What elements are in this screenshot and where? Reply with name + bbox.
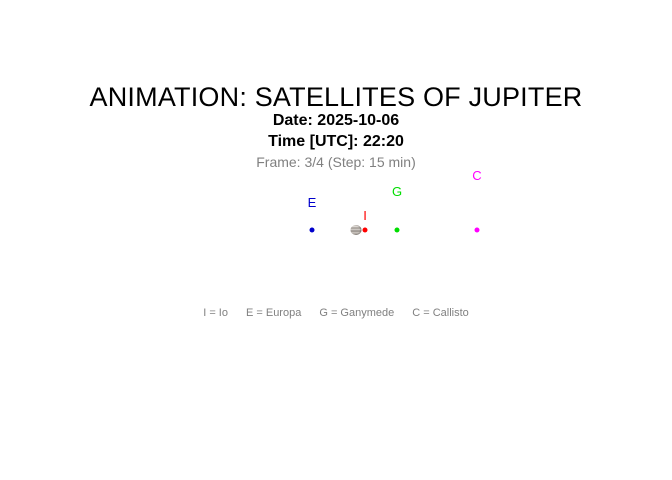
legend-entry: E = Europa xyxy=(246,307,301,319)
moon-marker-callisto xyxy=(475,228,480,233)
moon-marker-europa xyxy=(310,228,315,233)
moon-label-callisto: C xyxy=(472,169,481,182)
legend-entry: I = Io xyxy=(203,307,228,319)
legend-entry: G = Ganymede xyxy=(319,307,394,319)
legend: I = IoE = EuropaG = GanymedeC = Callisto xyxy=(0,307,672,319)
legend-entry: C = Callisto xyxy=(412,307,469,319)
satellite-plot: EIGC xyxy=(0,0,672,480)
animation-canvas: ANIMATION: SATELLITES OF JUPITER Date: 2… xyxy=(0,0,672,480)
moon-marker-ganymede xyxy=(395,228,400,233)
jupiter-disk xyxy=(351,225,362,235)
moon-label-io: I xyxy=(363,209,367,222)
moon-label-ganymede: G xyxy=(392,185,402,198)
moon-marker-io xyxy=(363,228,368,233)
moon-label-europa: E xyxy=(308,196,317,209)
